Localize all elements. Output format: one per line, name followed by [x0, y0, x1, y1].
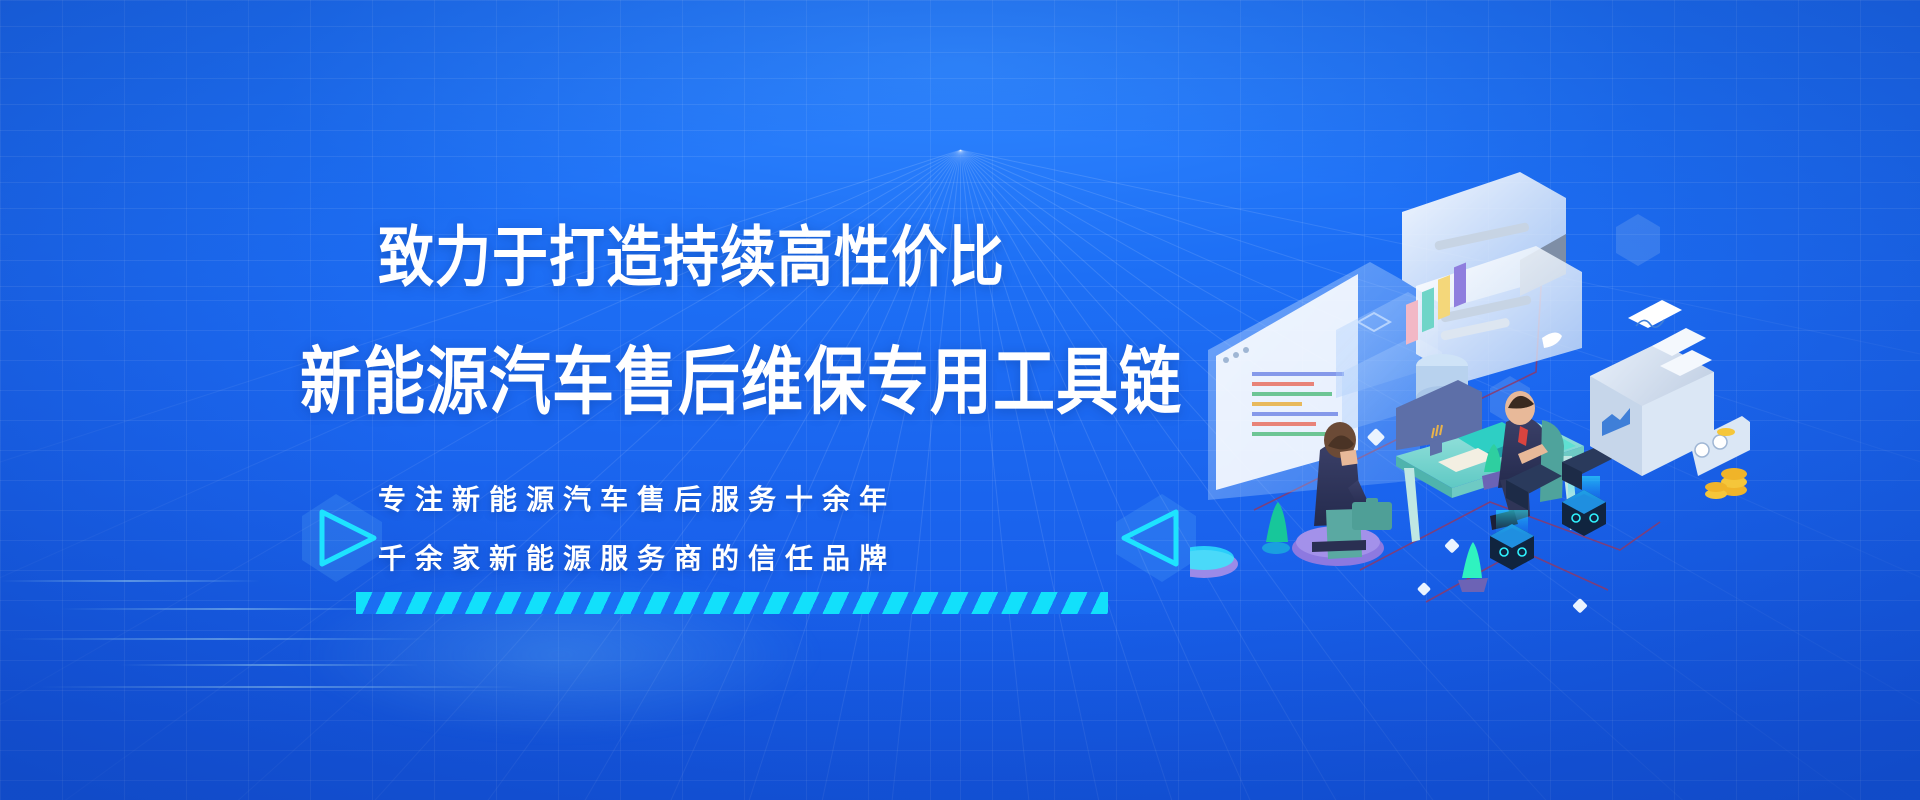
play-triangle-left-icon [1110, 488, 1202, 588]
banner-content: 致力于打造持续高性价比 新能源汽车售后维保专用工具链 专注新能源汽车售后服务十余… [0, 0, 1240, 800]
headline-line-1: 致力于打造持续高性价比 [378, 205, 1005, 301]
subtitle-line-1: 专注新能源汽车售后服务十余年 [378, 478, 896, 518]
portal-glow [1190, 546, 1238, 578]
diagonal-stripe-divider [356, 592, 1108, 614]
play-triangle-right-icon [296, 488, 388, 588]
potted-plant [1262, 502, 1290, 554]
potted-plant [1458, 542, 1488, 592]
subtitle-line-2: 千余家新能源服务商的信任品牌 [378, 537, 896, 577]
isometric-business-consulting-illustration [1190, 150, 1750, 620]
hero-banner: 致力于打造持续高性价比 新能源汽车售后维保专用工具链 专注新能源汽车售后服务十余… [0, 0, 1920, 800]
headline-line-2: 新能源汽车售后维保专用工具链 [300, 322, 1182, 428]
chart-document-card [1628, 300, 1682, 328]
